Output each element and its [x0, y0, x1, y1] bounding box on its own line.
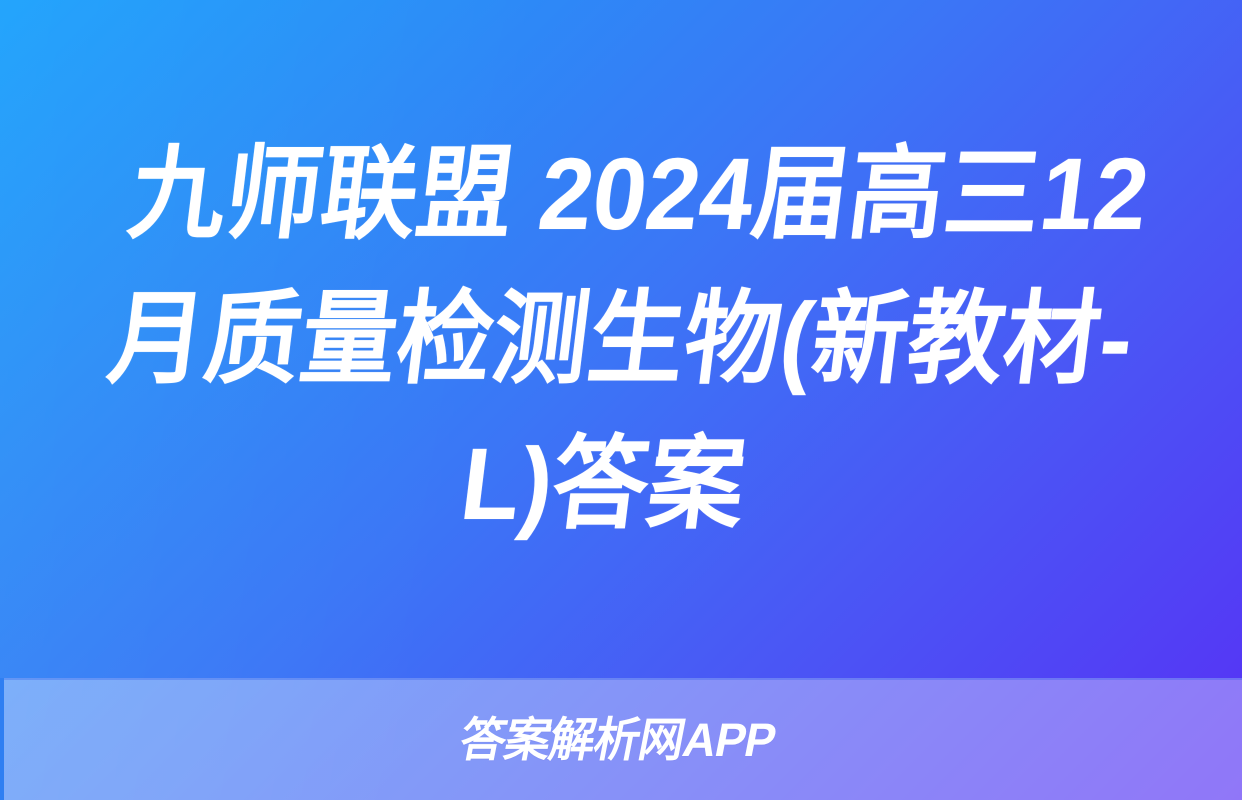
watermark-app-label: 答案解析网APP: [456, 716, 779, 763]
band-divider-line: [0, 678, 1242, 680]
band-left-accent-strip: [0, 678, 4, 800]
page-title: 九师联盟 2024届高三12月质量检测生物(新教材-L)答案: [76, 122, 1165, 557]
poster-canvas: 九师联盟 2024届高三12月质量检测生物(新教材-L)答案 答案解析网APP: [0, 0, 1242, 800]
watermark-band: 答案解析网APP: [0, 678, 1242, 800]
title-block: 九师联盟 2024届高三12月质量检测生物(新教材-L)答案: [0, 0, 1242, 678]
